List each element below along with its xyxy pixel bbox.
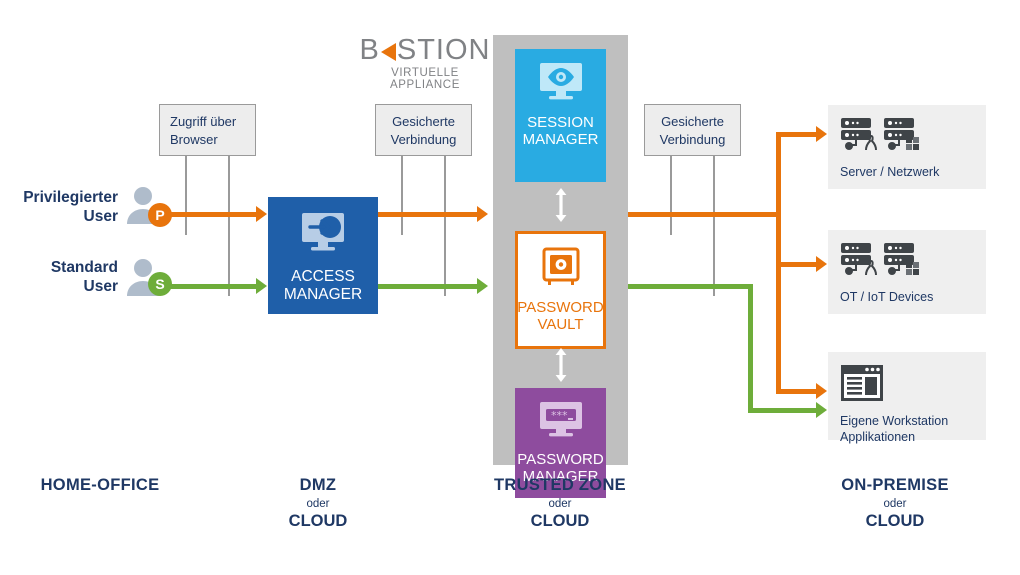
user-label-standard: Standard User [8,258,118,297]
zone-name: HOME-OFFICE [10,476,190,495]
server-network-icon [840,242,986,283]
flow-orange-to-ot [776,262,818,267]
zone-oder: oder [238,498,398,510]
target-server-netzwerk[interactable]: Server / Netzwerk [828,105,986,189]
flow-green-user-to-am [170,284,258,289]
note-line-2: Verbindung [655,131,730,149]
arrow-green-into-vault [477,278,488,294]
badge-standard: S [148,272,172,296]
note-line-2: Verbindung [386,131,461,149]
flow-orange-to-workstation [776,389,818,394]
note-gesicherte-verbindung-1: Gesicherte Verbindung [375,104,472,156]
am-title-line-2: MANAGER [284,286,362,304]
module-title-line-2: MANAGER [523,131,599,148]
double-arrow-vault-manager-icon [554,347,568,383]
module-title-line-1: PASSWORD [517,299,603,316]
badge-privileged: P [148,203,172,227]
module-title-line-2: VAULT [517,316,603,333]
arrow-orange-into-ot-iot [816,256,827,272]
target-ot-iot-devices[interactable]: OT / IoT Devices [828,230,986,314]
trusted-zone-container: SESSION MANAGER PASSWORD [493,35,628,465]
zone-caption-home-office: HOME-OFFICE [10,476,190,495]
arrow-green-into-access-manager [256,278,267,294]
target-label-line-1: Eigene Workstation [840,413,986,429]
zone-caption-on-premise: ON-PREMISE oder CLOUD [815,476,975,531]
note-zugriff-browser: Zugriff über Browser [159,104,256,156]
note-line-1: Gesicherte [386,113,461,131]
module-title-line-1: SESSION [523,114,599,131]
am-title-line-1: ACCESS [284,268,362,286]
zone-oder: oder [815,498,975,510]
logo-subtitle: VIRTUELLE APPLIANCE [360,67,490,91]
arrow-orange-into-access-manager [256,206,267,222]
safe-vault-icon [540,246,582,293]
pipe-line [713,156,715,296]
access-manager-block[interactable]: ACCESS MANAGER [268,197,378,314]
flow-orange-user-to-am [170,212,258,217]
user-label-privileged: Privilegierter User [8,188,118,227]
svg-text:***: *** [551,409,568,422]
user-label-line-2: User [8,207,118,226]
zone-cloud: CLOUD [238,512,398,531]
user-label-line-1: Privilegierter [8,188,118,207]
password-vault-title: PASSWORD VAULT [517,299,603,334]
pipe-line [185,156,187,235]
pipe-line [444,156,446,296]
logo-letters-stion: STION [397,36,491,65]
flow-green-trunk [748,284,753,413]
flow-orange-vault-to-trunk [628,212,781,217]
password-vault-block[interactable]: PASSWORD VAULT [515,231,606,349]
note-line-1: Gesicherte [655,113,730,131]
double-arrow-session-vault-icon [554,187,568,223]
diagram-canvas: B STION VIRTUELLE APPLIANCE Zugriff über… [0,0,1020,575]
logo-wordmark: B STION [360,36,490,65]
target-label-eigene-workstation: Eigene Workstation Applikationen [840,413,986,446]
zone-caption-dmz: DMZ oder CLOUD [238,476,398,531]
pipe-line [228,156,230,296]
monitor-login-icon [296,211,350,260]
access-manager-title: ACCESS MANAGER [284,268,362,304]
target-label-line-1: OT / IoT Devices [840,289,986,305]
zone-cloud: CLOUD [815,512,975,531]
zone-caption-trusted-zone: TRUSTED ZONE oder CLOUD [480,476,640,531]
target-label-line-2: Applikationen [840,429,986,445]
zone-oder: oder [480,498,640,510]
logo-letter-b: B [360,36,380,65]
flow-orange-am-to-vault [378,212,478,217]
zone-name: ON-PREMISE [815,476,975,495]
flow-orange-to-server [776,132,818,137]
session-manager-block[interactable]: SESSION MANAGER [515,49,606,182]
user-label-line-2: User [8,277,118,296]
note-line-1: Zugriff über [170,113,245,131]
target-label-server-netzwerk: Server / Netzwerk [840,164,986,180]
flow-green-am-to-vault [378,284,478,289]
arrow-green-into-workstation [816,402,827,418]
target-label-ot-iot-devices: OT / IoT Devices [840,289,986,305]
target-label-line-1: Server / Netzwerk [840,164,986,180]
arrow-orange-into-server-network [816,126,827,142]
flow-green-vault-to-trunk [628,284,753,289]
bastion-logo: B STION VIRTUELLE APPLIANCE [360,36,490,91]
session-manager-title: SESSION MANAGER [523,114,599,149]
monitor-password-icon: *** [535,400,587,445]
arrow-orange-into-vault [477,206,488,222]
browser-window-icon [840,364,986,407]
zone-cloud: CLOUD [480,512,640,531]
pipe-line [670,156,672,235]
module-title-line-1: PASSWORD [517,451,603,468]
pipe-line [401,156,403,235]
zone-name: DMZ [238,476,398,495]
server-network-icon [840,117,986,158]
note-gesicherte-verbindung-2: Gesicherte Verbindung [644,104,741,156]
target-eigene-workstation[interactable]: Eigene Workstation Applikationen [828,352,986,440]
flow-green-to-workstation [748,408,818,413]
monitor-eye-icon [535,61,587,108]
arrow-orange-into-workstation [816,383,827,399]
user-label-line-1: Standard [8,258,118,277]
note-line-2: Browser [170,131,245,149]
logo-triangle-icon [381,43,396,61]
zone-name: TRUSTED ZONE [480,476,640,495]
